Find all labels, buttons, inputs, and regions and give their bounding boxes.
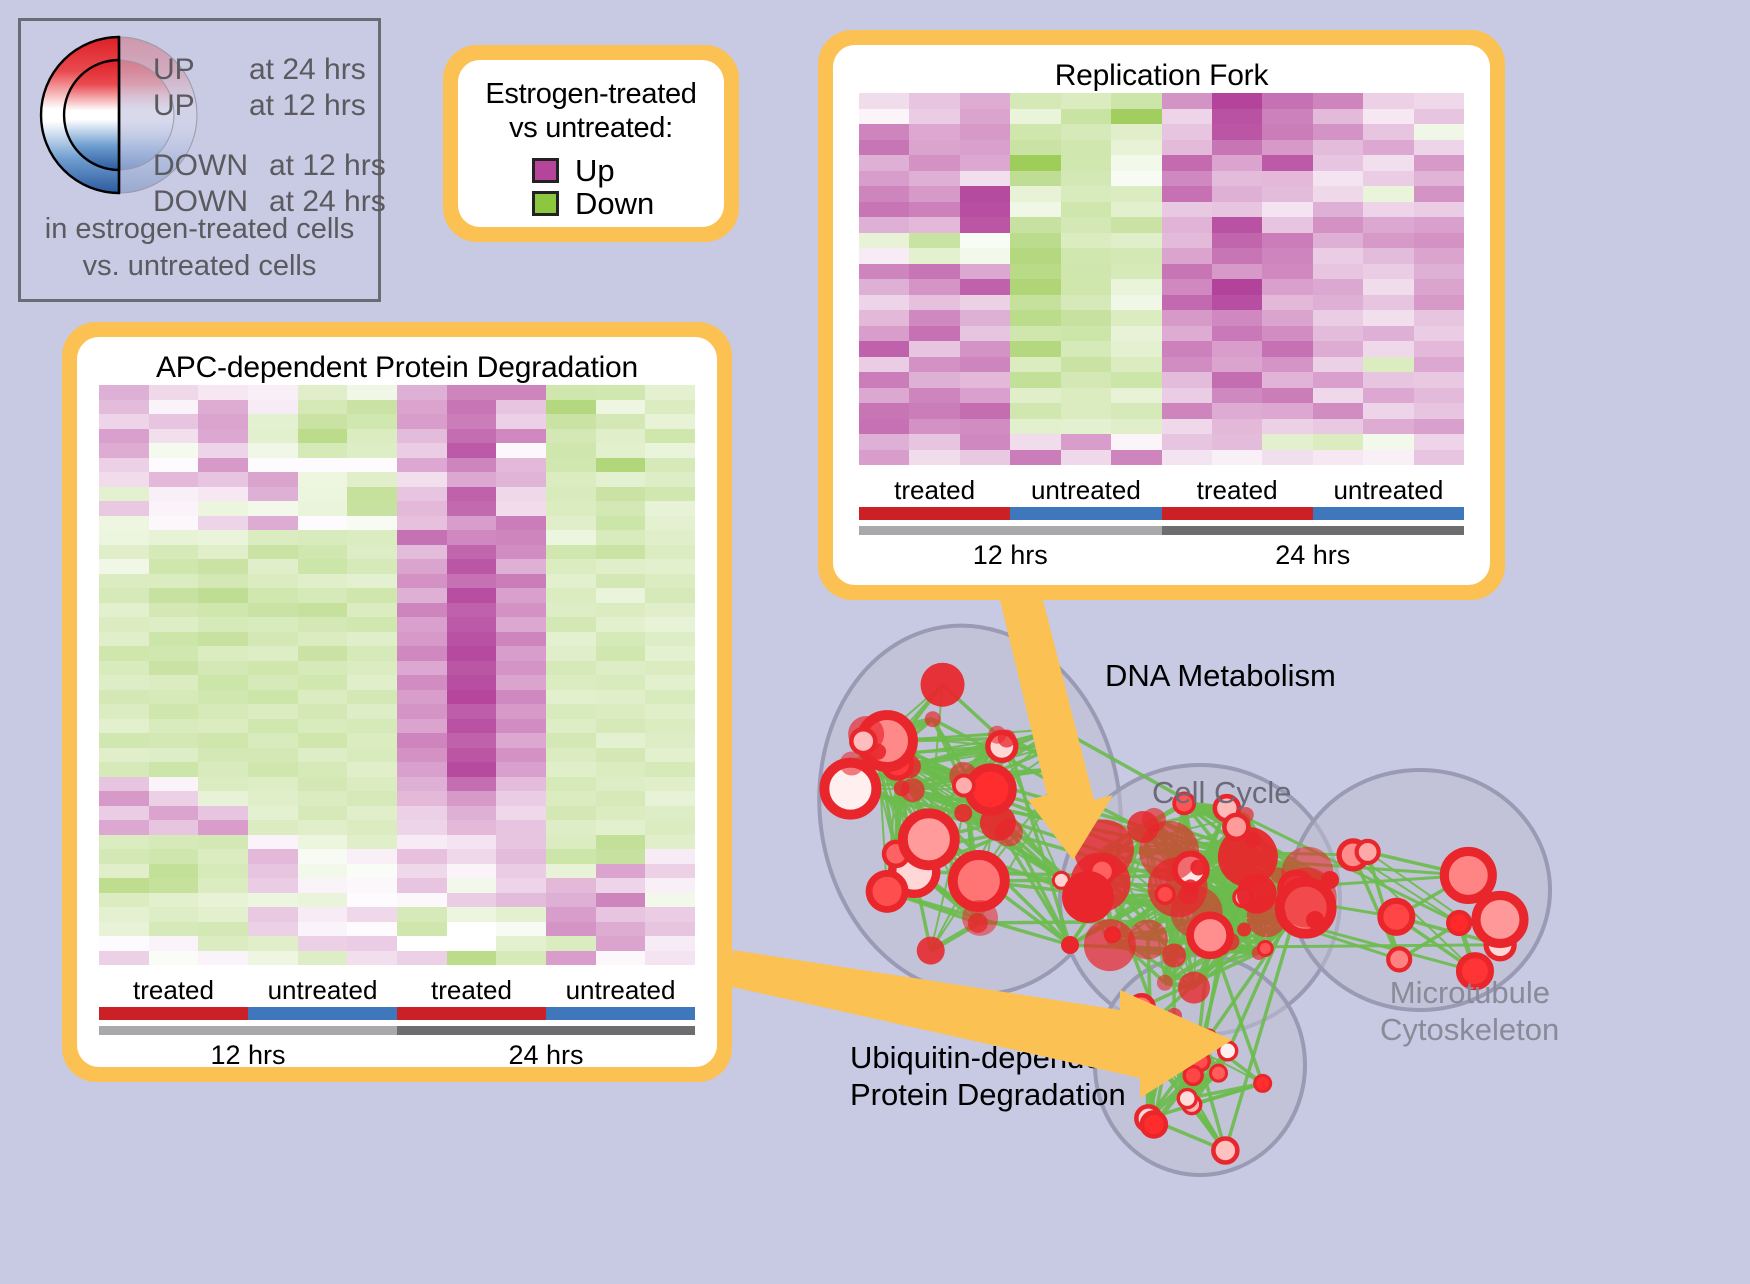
heatmap-cell <box>1162 186 1212 202</box>
network-node <box>870 744 886 760</box>
heatmap-cell <box>546 588 596 603</box>
heatmap-cell <box>1262 419 1312 435</box>
heatmap-cell <box>397 719 447 734</box>
heatmap-cell <box>397 588 447 603</box>
heatmap-cell <box>397 574 447 589</box>
key-time-up-24: at 24 hrs <box>249 53 366 87</box>
condition-label: untreated <box>1313 477 1464 504</box>
heatmap-cell <box>645 820 695 835</box>
heatmap-cell <box>248 835 298 850</box>
expression-color-key: UP at 24 hrs UP at 12 hrs DOWN at 12 hrs… <box>18 18 381 302</box>
heatmap-cell <box>1162 109 1212 125</box>
heatmap-cell <box>99 632 149 647</box>
heatmap-cell <box>960 341 1010 357</box>
heatmap-cell <box>1212 419 1262 435</box>
replication-fork-title: Replication Fork <box>859 45 1464 93</box>
heatmap-cell <box>1010 326 1060 342</box>
heatmap-cell <box>198 719 248 734</box>
heatmap-cell <box>99 617 149 632</box>
heatmap-cell <box>149 922 199 937</box>
heatmap-cell <box>198 458 248 473</box>
heatmap-cell <box>248 414 298 429</box>
heatmap-cell <box>347 588 397 603</box>
heatmap-cell <box>645 835 695 850</box>
heatmap-cell <box>1313 171 1363 187</box>
network-node <box>1084 919 1136 971</box>
heatmap-cell <box>198 516 248 531</box>
heatmap-cell <box>99 675 149 690</box>
heatmap-cell <box>1061 233 1111 249</box>
heatmap-cell <box>347 400 397 415</box>
heatmap-cell <box>248 458 298 473</box>
heatmap-cell <box>1363 124 1413 140</box>
heatmap-cell <box>1313 403 1363 419</box>
heatmap-cell <box>1162 140 1212 156</box>
heatmap-cell <box>198 385 248 400</box>
network-node <box>1178 972 1210 1004</box>
heatmap-cell <box>1414 372 1464 388</box>
heatmap-cell <box>347 516 397 531</box>
heatmap-cell <box>447 516 497 531</box>
heatmap-cell <box>397 893 447 908</box>
heatmap-cell <box>1010 388 1060 404</box>
heatmap-cell <box>1262 93 1312 109</box>
heatmap-cell <box>298 661 348 676</box>
heatmap-cell <box>1363 450 1413 466</box>
heatmap-cell <box>248 849 298 864</box>
heatmap-cell <box>596 777 646 792</box>
heatmap-cell <box>596 864 646 879</box>
heatmap-cell <box>397 632 447 647</box>
heatmap-cell <box>298 733 348 748</box>
heatmap-cell <box>496 675 546 690</box>
heatmap-cell <box>1414 186 1464 202</box>
replication-fork-panel: Replication Fork treated untreated treat… <box>818 30 1505 600</box>
heatmap-cell <box>248 748 298 763</box>
heatmap-cell <box>596 690 646 705</box>
heatmap-cell <box>960 357 1010 373</box>
heatmap-cell <box>347 951 397 966</box>
heatmap-cell <box>1162 93 1212 109</box>
heatmap-cell <box>496 733 546 748</box>
heatmap-cell <box>960 419 1010 435</box>
heatmap-cell <box>1313 326 1363 342</box>
heatmap-cell <box>347 733 397 748</box>
heatmap-cell <box>198 820 248 835</box>
network-node <box>1140 1045 1156 1061</box>
heatmap-cell <box>347 762 397 777</box>
heatmap-cell <box>1111 124 1161 140</box>
heatmap-cell <box>1010 124 1060 140</box>
heatmap-cell <box>859 372 909 388</box>
heatmap-cell <box>1010 171 1060 187</box>
time-label-12hrs: 12 hrs <box>99 1040 397 1071</box>
heatmap-cell <box>546 385 596 400</box>
condition-label: untreated <box>546 977 695 1004</box>
cluster-label-ubiquitin-degradation: Ubiquitin-dependent Protein Degradation <box>850 1040 1128 1113</box>
heatmap-cell <box>149 400 199 415</box>
heatmap-cell <box>859 264 909 280</box>
heatmap-cell <box>1061 155 1111 171</box>
heatmap-cell <box>1363 93 1413 109</box>
heatmap-cell <box>397 690 447 705</box>
heatmap-cell <box>859 279 909 295</box>
heatmap-cell <box>1313 202 1363 218</box>
heatmap-cell <box>298 429 348 444</box>
heatmap-cell <box>347 690 397 705</box>
heatmap-cell <box>496 835 546 850</box>
heatmap-cell <box>397 864 447 879</box>
heatmap-cell <box>99 661 149 676</box>
heatmap-cell <box>1363 326 1413 342</box>
heatmap-cell <box>397 646 447 661</box>
heatmap-cell <box>1061 264 1111 280</box>
heatmap-cell <box>645 878 695 893</box>
heatmap-cell <box>149 603 199 618</box>
heatmap-cell <box>1111 310 1161 326</box>
heatmap-cell <box>546 574 596 589</box>
heatmap-cell <box>1010 140 1060 156</box>
heatmap-cell <box>99 719 149 734</box>
heatmap-cell <box>149 719 199 734</box>
heatmap-cell <box>99 588 149 603</box>
heatmap-cell <box>198 661 248 676</box>
heatmap-cell <box>99 429 149 444</box>
heatmap-cell <box>149 646 199 661</box>
heatmap-cell <box>99 690 149 705</box>
heatmap-cell <box>447 922 497 937</box>
heatmap-cell <box>909 341 959 357</box>
heatmap-cell <box>1010 341 1060 357</box>
heatmap-cell <box>960 372 1010 388</box>
heatmap-cell <box>1212 310 1262 326</box>
heatmap-cell <box>596 733 646 748</box>
heatmap-cell <box>909 233 959 249</box>
network-node <box>1166 1008 1182 1024</box>
heatmap-cell <box>859 434 909 450</box>
heatmap-cell <box>645 719 695 734</box>
heatmap-cell <box>596 429 646 444</box>
heatmap-cell <box>1262 109 1312 125</box>
heatmap-cell <box>447 545 497 560</box>
heatmap-cell <box>198 762 248 777</box>
heatmap-cell <box>909 202 959 218</box>
heatmap-cell <box>645 443 695 458</box>
heatmap-cell <box>596 646 646 661</box>
heatmap-cell <box>1111 372 1161 388</box>
heatmap-cell <box>496 704 546 719</box>
heatmap-cell <box>1363 155 1413 171</box>
network-node <box>1057 756 1081 780</box>
heatmap-cell <box>1262 372 1312 388</box>
heatmap-cell <box>298 603 348 618</box>
heatmap-cell <box>546 487 596 502</box>
heatmap-cell <box>99 777 149 792</box>
heatmap-cell <box>496 516 546 531</box>
heatmap-cell <box>447 414 497 429</box>
heatmap-cell <box>1010 248 1060 264</box>
heatmap-cell <box>198 893 248 908</box>
heatmap-cell <box>496 632 546 647</box>
condition-bar-treated <box>397 1007 546 1020</box>
heatmap-cell <box>198 603 248 618</box>
heatmap-cell <box>1212 450 1262 466</box>
network-node <box>995 818 1023 846</box>
legend-label-down: Down <box>575 188 654 219</box>
heatmap-cell <box>1162 295 1212 311</box>
condition-label: treated <box>859 477 1010 504</box>
heatmap-cell <box>1010 93 1060 109</box>
heatmap-cell <box>1313 155 1363 171</box>
heatmap-cell <box>496 791 546 806</box>
network-node <box>903 813 955 865</box>
heatmap-cell <box>645 907 695 922</box>
heatmap-cell <box>1363 341 1413 357</box>
heatmap-cell <box>1414 279 1464 295</box>
heatmap-cell <box>198 588 248 603</box>
heatmap-cell <box>960 171 1010 187</box>
heatmap-cell <box>596 530 646 545</box>
heatmap-cell <box>909 217 959 233</box>
heatmap-cell <box>546 516 596 531</box>
heatmap-cell <box>248 545 298 560</box>
heatmap-cell <box>447 458 497 473</box>
heatmap-cell <box>960 388 1010 404</box>
heatmap-cell <box>198 907 248 922</box>
heatmap-cell <box>496 545 546 560</box>
heatmap-cell <box>1363 171 1413 187</box>
heatmap-cell <box>447 632 497 647</box>
heatmap-cell <box>149 690 199 705</box>
heatmap-cell <box>1162 419 1212 435</box>
heatmap-cell <box>546 545 596 560</box>
heatmap-cell <box>1212 124 1262 140</box>
heatmap-cell <box>198 501 248 516</box>
heatmap-cell <box>198 806 248 821</box>
heatmap-cell <box>1363 434 1413 450</box>
heatmap-cell <box>645 762 695 777</box>
heatmap-cell <box>1313 388 1363 404</box>
heatmap-cell <box>496 762 546 777</box>
heatmap-cell <box>1162 434 1212 450</box>
heatmap-cell <box>298 791 348 806</box>
heatmap-cell <box>1061 124 1111 140</box>
heatmap-cell <box>248 864 298 879</box>
network-node <box>998 730 1016 748</box>
heatmap-cell <box>248 893 298 908</box>
heatmap-cell <box>298 574 348 589</box>
heatmap-cell <box>149 849 199 864</box>
heatmap-cell <box>397 400 447 415</box>
heatmap-cell <box>1061 248 1111 264</box>
network-node <box>969 768 1013 812</box>
heatmap-cell <box>645 922 695 937</box>
heatmap-cell <box>1010 279 1060 295</box>
heatmap-cell <box>546 530 596 545</box>
heatmap-cell <box>645 559 695 574</box>
heatmap-cell <box>149 661 199 676</box>
heatmap-cell <box>1162 403 1212 419</box>
heatmap-cell <box>1414 217 1464 233</box>
heatmap-cell <box>248 603 298 618</box>
heatmap-cell <box>298 443 348 458</box>
heatmap-cell <box>960 186 1010 202</box>
heatmap-cell <box>496 951 546 966</box>
heatmap-cell <box>496 864 546 879</box>
condition-label: treated <box>1162 477 1313 504</box>
heatmap-cell <box>1061 388 1111 404</box>
heatmap-cell <box>1111 403 1161 419</box>
heatmap-cell <box>1111 155 1161 171</box>
legend-title-line2: vs untreated: <box>478 112 704 146</box>
key-label-up-24: UP <box>153 53 195 87</box>
heatmap-cell <box>960 248 1010 264</box>
heatmap-cell <box>99 443 149 458</box>
heatmap-cell <box>198 835 248 850</box>
heatmap-cell <box>397 951 447 966</box>
network-node <box>1189 1027 1205 1043</box>
heatmap-cell <box>960 295 1010 311</box>
heatmap-cell <box>99 733 149 748</box>
heatmap-cell <box>596 719 646 734</box>
heatmap-cell <box>149 893 199 908</box>
heatmap-cell <box>1162 310 1212 326</box>
heatmap-cell <box>1212 372 1262 388</box>
heatmap-cell <box>1061 93 1111 109</box>
heatmap-cell <box>1162 217 1212 233</box>
heatmap-cell <box>347 574 397 589</box>
heatmap-cell <box>1363 109 1413 125</box>
heatmap-cell <box>496 661 546 676</box>
heatmap-cell <box>198 545 248 560</box>
heatmap-cell <box>1111 186 1161 202</box>
heatmap-cell <box>198 878 248 893</box>
heatmap-cell <box>298 806 348 821</box>
heatmap-cell <box>1061 341 1111 357</box>
heatmap-cell <box>1262 295 1312 311</box>
heatmap-cell <box>298 936 348 951</box>
heatmap-cell <box>1162 202 1212 218</box>
heatmap-cell <box>546 559 596 574</box>
heatmap-cell <box>1262 310 1312 326</box>
heatmap-cell <box>347 820 397 835</box>
heatmap-cell <box>198 400 248 415</box>
heatmap-cell <box>447 791 497 806</box>
heatmap-cell <box>248 646 298 661</box>
heatmap-cell <box>546 400 596 415</box>
heatmap-cell <box>447 588 497 603</box>
heatmap-cell <box>960 93 1010 109</box>
heatmap-cell <box>248 400 298 415</box>
heatmap-cell <box>1061 372 1111 388</box>
heatmap-cell <box>859 388 909 404</box>
heatmap-cell <box>149 385 199 400</box>
heatmap-cell <box>397 545 447 560</box>
heatmap-cell <box>1061 109 1111 125</box>
heatmap-cell <box>1010 310 1060 326</box>
heatmap-cell <box>347 777 397 792</box>
heatmap-cell <box>596 385 646 400</box>
network-node <box>1178 1090 1196 1108</box>
heatmap-cell <box>496 878 546 893</box>
heatmap-cell <box>248 516 298 531</box>
heatmap-cell <box>1162 357 1212 373</box>
heatmap-cell <box>149 487 199 502</box>
heatmap-cell <box>248 487 298 502</box>
heatmap-cell <box>1010 450 1060 466</box>
time-bar-24hrs <box>397 1026 695 1035</box>
heatmap-cell <box>596 849 646 864</box>
heatmap-cell <box>248 675 298 690</box>
network-node <box>1219 1042 1237 1060</box>
heatmap-cell <box>645 733 695 748</box>
heatmap-cell <box>99 501 149 516</box>
heatmap-cell <box>99 762 149 777</box>
heatmap-cell <box>397 443 447 458</box>
heatmap-cell <box>1010 109 1060 125</box>
heatmap-cell <box>198 675 248 690</box>
heatmap-cell <box>1061 171 1111 187</box>
heatmap-cell <box>1262 326 1312 342</box>
heatmap-cell <box>149 777 199 792</box>
cluster-label-microtubule-cytoskeleton: Microtubule Cytoskeleton <box>1380 975 1550 1048</box>
heatmap-cell <box>1111 295 1161 311</box>
heatmap-cell <box>198 646 248 661</box>
heatmap-cell <box>859 310 909 326</box>
heatmap-cell <box>347 429 397 444</box>
heatmap-cell <box>909 171 959 187</box>
heatmap-cell <box>447 675 497 690</box>
heatmap-cell <box>1262 155 1312 171</box>
heatmap-cell <box>645 530 695 545</box>
heatmap-cell <box>347 487 397 502</box>
heatmap-cell <box>546 458 596 473</box>
heatmap-cell <box>596 545 646 560</box>
heatmap-cell <box>447 429 497 444</box>
heatmap-cell <box>198 777 248 792</box>
network-node <box>869 873 905 909</box>
heatmap-cell <box>1111 217 1161 233</box>
heatmap-cell <box>1262 217 1312 233</box>
network-node <box>1271 868 1287 884</box>
heatmap-cell <box>596 443 646 458</box>
heatmap-cell <box>960 124 1010 140</box>
heatmap-cell <box>596 661 646 676</box>
heatmap-cell <box>1414 388 1464 404</box>
heatmap-cell <box>198 443 248 458</box>
time-bar-12hrs <box>859 526 1162 535</box>
heatmap-cell <box>645 864 695 879</box>
heatmap-cell <box>909 434 959 450</box>
heatmap-cell <box>347 806 397 821</box>
heatmap-cell <box>859 155 909 171</box>
heatmap-cell <box>149 574 199 589</box>
legend-items: Up Down <box>478 155 704 219</box>
heatmap-cell <box>496 907 546 922</box>
heatmap-cell <box>397 704 447 719</box>
heatmap-cell <box>596 820 646 835</box>
heatmap-cell <box>298 588 348 603</box>
heatmap-cell <box>149 429 199 444</box>
heatmap-cell <box>645 400 695 415</box>
heatmap-cell <box>1313 357 1363 373</box>
heatmap-cell <box>447 385 497 400</box>
heatmap-cell <box>397 429 447 444</box>
heatmap-cell <box>447 443 497 458</box>
legend-label-up: Up <box>575 155 615 186</box>
heatmap-cell <box>248 733 298 748</box>
replication-time-labels: 12 hrs 24 hrs <box>859 540 1464 571</box>
